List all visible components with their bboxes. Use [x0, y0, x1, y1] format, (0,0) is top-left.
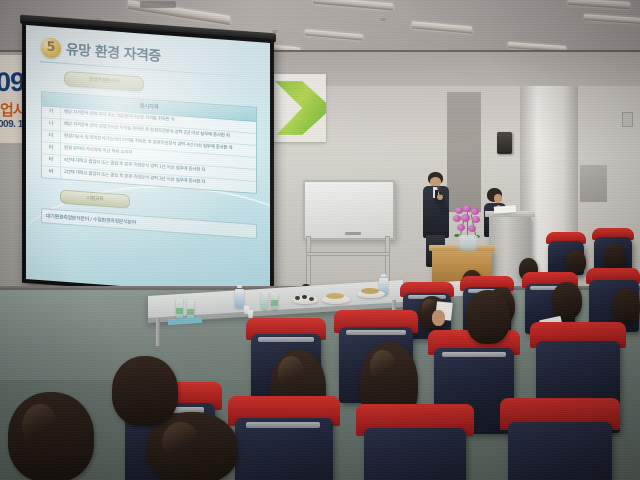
- row-key: 다: [42, 130, 61, 142]
- orchid-bloom: [463, 205, 471, 212]
- water-bottle: [261, 291, 268, 309]
- bottle-cap: [177, 294, 182, 297]
- audience-head: [604, 244, 625, 269]
- orchid-bloom: [457, 224, 465, 231]
- water-bottle: [235, 289, 244, 308]
- whiteboard-leg: [306, 236, 311, 288]
- snack-item: [309, 297, 314, 301]
- raised-hand: [432, 310, 445, 326]
- orchid-bloom: [455, 207, 463, 214]
- bottle-label: [176, 308, 183, 314]
- bottle-label: [187, 309, 194, 315]
- seminar-photo: 수회 전략토론 환경정책과 09 업시 009. 11. 5 유망 환경 자격증…: [0, 0, 640, 480]
- snack-item: [302, 295, 307, 299]
- audience-head: [566, 250, 586, 274]
- orchid-bloom: [472, 216, 480, 223]
- ceiling-sprinkler: [380, 18, 386, 21]
- slide-section-button-bottom: 시험과목: [60, 189, 130, 208]
- hair-highlight: [22, 404, 58, 448]
- flower-vase: [458, 235, 478, 252]
- pull-down-projection-screen: 5 유망 환경 자격증 환경측정분석사 응시자격 가 해당 자격종목 분야 자사…: [22, 21, 274, 302]
- hair-highlight: [370, 350, 396, 384]
- slide-number-badge: 5: [41, 37, 61, 58]
- mobile-whiteboard: [303, 180, 395, 240]
- wall-vent: [580, 165, 607, 202]
- banner-year: 09: [0, 67, 24, 98]
- slide-table: 응시자격 가 해당 자격종목 분야 자사 또는 해당분야기능장 자격을 취득한 …: [41, 91, 257, 194]
- table-leg: [156, 318, 160, 346]
- screen-surface: 5 유망 환경 자격증 환경측정분석사 응시자격 가 해당 자격종목 분야 자사…: [26, 25, 270, 297]
- hair-highlight: [162, 422, 200, 462]
- row-key: 가: [42, 106, 61, 118]
- slide-title-row: 5 유망 환경 자격증: [41, 37, 258, 73]
- slide-footnote: 대기환경측정분석분야 / 수질환경측정분석분야: [41, 208, 257, 239]
- seat-back: [364, 428, 466, 480]
- audience-head: [112, 356, 178, 426]
- orchid-bloom: [468, 225, 476, 232]
- wall-switch-box: [622, 112, 633, 127]
- wall-speaker: [497, 132, 512, 154]
- ceiling-projector-mount: [140, 1, 176, 8]
- audience-head: [612, 288, 640, 324]
- orchid-bloom: [461, 214, 470, 222]
- orchid-bloom: [471, 208, 479, 215]
- doorway: [447, 92, 481, 212]
- seat-back: [508, 422, 612, 480]
- row-key: 나: [42, 118, 61, 130]
- orchid-bloom: [453, 215, 461, 222]
- seat-trim: [246, 422, 320, 428]
- audience-head: [552, 282, 582, 319]
- whiteboard-marker-tray: [345, 232, 361, 235]
- hair-highlight: [278, 356, 304, 390]
- seat-trim: [258, 337, 314, 342]
- whiteboard-crossbar: [306, 252, 390, 256]
- snack-item: [326, 293, 344, 299]
- row-key: 바: [42, 166, 61, 178]
- row-key: 라: [42, 142, 61, 154]
- row-key: 마: [42, 154, 61, 166]
- slide-title: 유망 환경 자격증: [66, 39, 161, 66]
- orchid-arrangement: [450, 205, 484, 253]
- slide-section-button-top: 환경측정분석사: [64, 71, 144, 92]
- bottle-cap: [381, 274, 386, 277]
- bottle-label: [271, 300, 278, 306]
- green-chevron-logo: [270, 76, 326, 140]
- snack-item: [361, 288, 379, 294]
- presentation-slide: 5 유망 환경 자격증 환경측정분석사 응시자격 가 해당 자격종목 분야 자사…: [26, 25, 270, 297]
- audience-head: [466, 290, 510, 344]
- seat-trim: [346, 330, 406, 335]
- seat-trim: [442, 352, 506, 357]
- assistant-face: [494, 194, 502, 203]
- snack-item: [295, 296, 300, 300]
- bottle-cap: [237, 285, 242, 288]
